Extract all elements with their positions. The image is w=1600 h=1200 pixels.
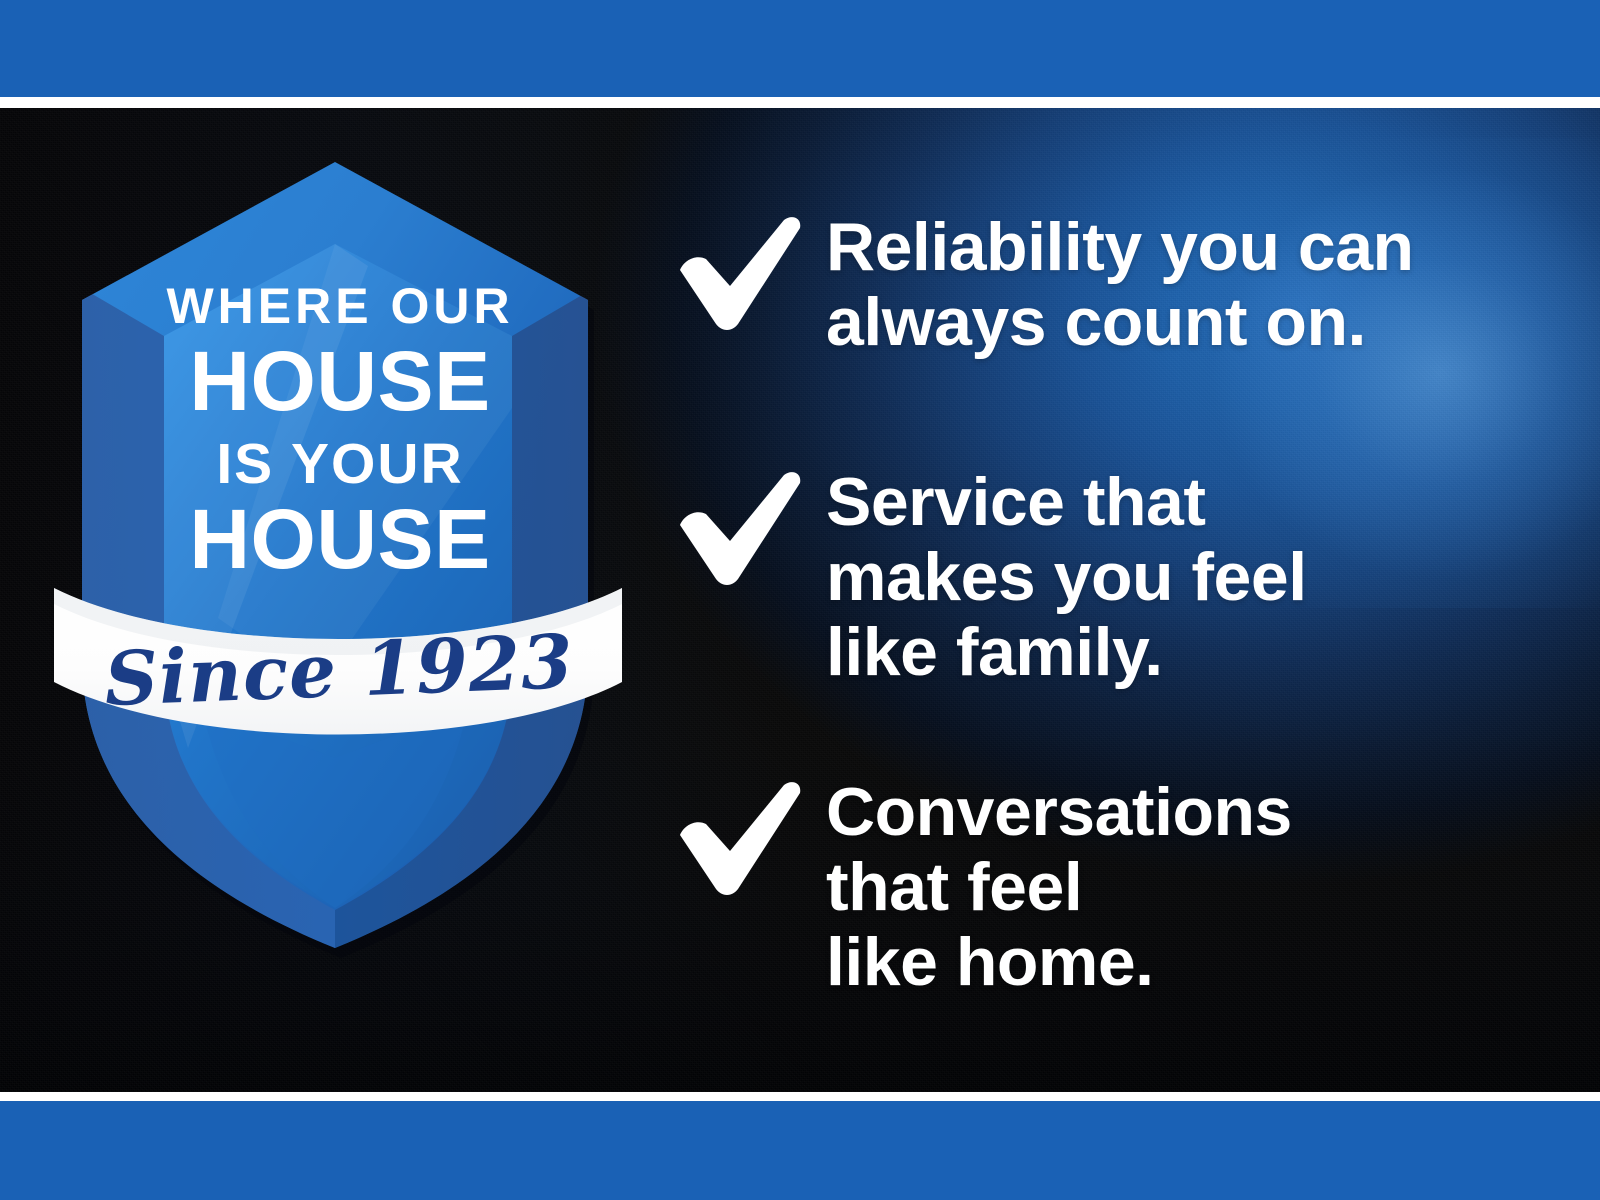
top-brand-bar — [0, 0, 1600, 97]
benefit-text: Service that makes you feel like family. — [826, 465, 1307, 689]
check-icon — [672, 212, 804, 332]
benefit-item-reliability: Reliability you can always count on. — [672, 208, 1414, 360]
bottom-brand-bar — [0, 1101, 1600, 1200]
benefit-item-conversations: Conversations that feel like home. — [672, 773, 1292, 999]
badge-line-2: HOUSE — [189, 334, 490, 428]
check-icon — [672, 467, 804, 587]
benefit-text: Conversations that feel like home. — [826, 775, 1292, 999]
shield-badge: WHERE OUR HOUSE IS YOUR HOUSE Since 1923 — [68, 148, 608, 938]
badge-line-1: WHERE OUR — [166, 278, 513, 334]
badge-line-3: IS YOUR — [216, 432, 463, 496]
promo-poster: WHERE OUR HOUSE IS YOUR HOUSE Since 1923… — [0, 0, 1600, 1200]
ribbon-since-text: Since 1923 — [103, 619, 575, 723]
benefit-text: Reliability you can always count on. — [826, 210, 1414, 360]
benefits-list: Reliability you can always count on. Ser… — [672, 108, 1572, 1092]
badge-line-4: HOUSE — [189, 492, 490, 586]
check-icon — [672, 777, 804, 897]
benefit-item-service: Service that makes you feel like family. — [672, 463, 1307, 689]
